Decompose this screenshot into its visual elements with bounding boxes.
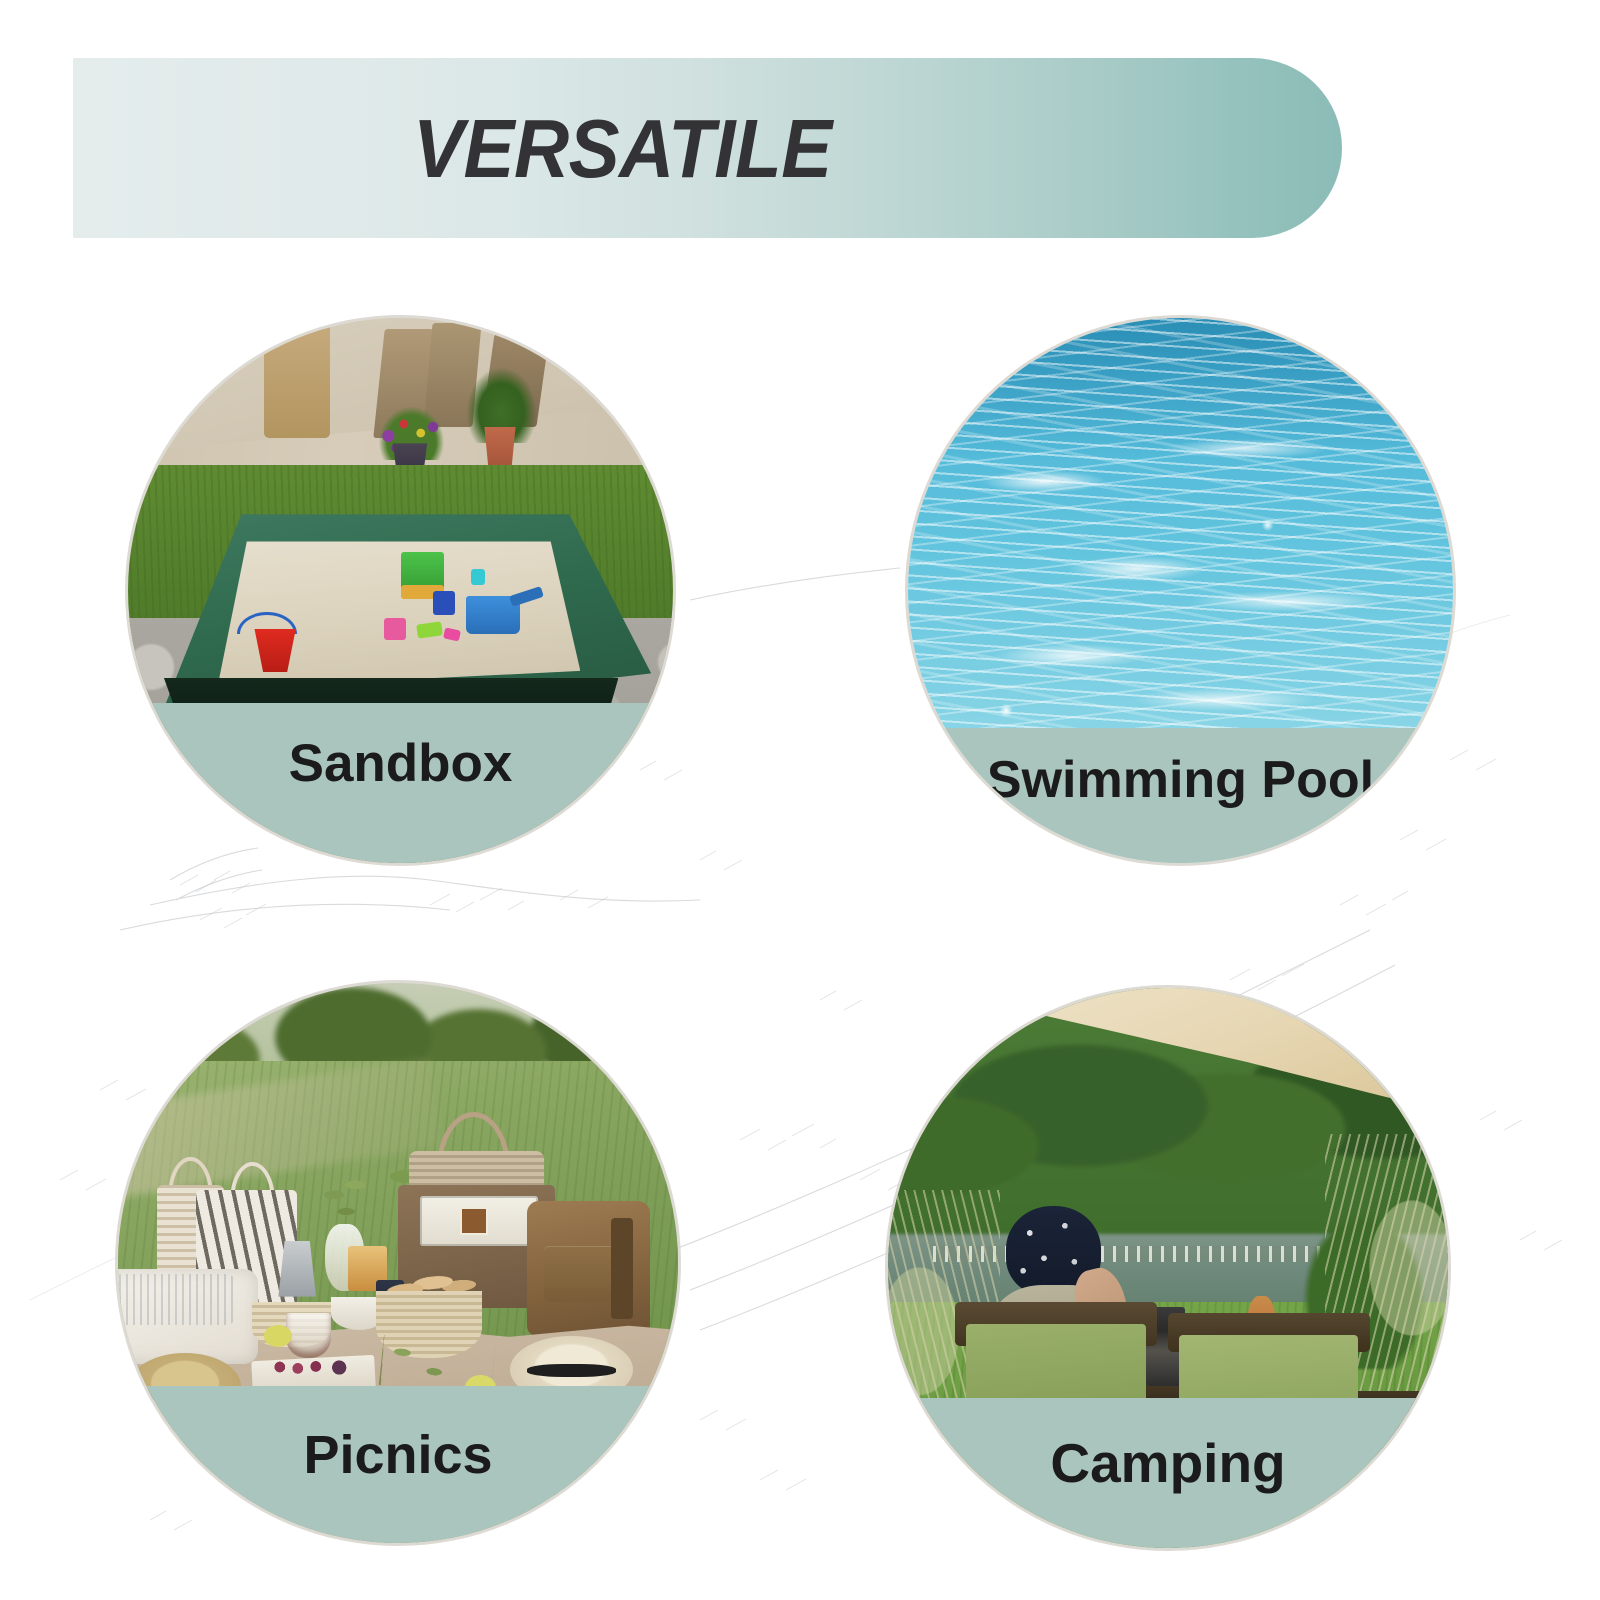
feature-circle-swimming-pool[interactable]: Swimming Pool xyxy=(908,318,1453,863)
label-band-swimming-pool: Swimming Pool xyxy=(908,728,1453,863)
panama-hat-band xyxy=(527,1364,617,1377)
toy-pink-piece xyxy=(384,618,406,640)
lemon xyxy=(264,1325,292,1347)
feature-circle-sandbox[interactable]: Sandbox xyxy=(128,318,673,863)
page-title: VERSATILE xyxy=(413,107,832,190)
toy-blue-block xyxy=(433,591,455,616)
circle-label-swimming-pool: Swimming Pool xyxy=(987,754,1374,806)
sliced-figs xyxy=(269,1353,359,1381)
hamper-leather-tag xyxy=(460,1207,488,1235)
feature-circle-picnics[interactable]: Picnics xyxy=(118,983,678,1543)
feature-circle-camping[interactable]: Camping xyxy=(888,988,1448,1548)
draped-towel xyxy=(264,318,329,438)
circle-label-camping: Camping xyxy=(1050,1436,1285,1491)
header-banner: VERSATILE xyxy=(73,58,1342,238)
dessert-glass xyxy=(286,1313,331,1358)
label-band-sandbox: Sandbox xyxy=(128,703,673,863)
label-band-picnics: Picnics xyxy=(118,1386,678,1543)
circle-label-picnics: Picnics xyxy=(303,1428,492,1482)
label-band-camping: Camping xyxy=(888,1398,1448,1548)
infographic-page: VERSATILE xyxy=(0,0,1600,1600)
cushion-texture xyxy=(118,1274,236,1324)
toy-cyan-piece xyxy=(471,569,485,585)
circle-label-sandbox: Sandbox xyxy=(289,737,513,790)
backpack-strap xyxy=(611,1218,633,1319)
